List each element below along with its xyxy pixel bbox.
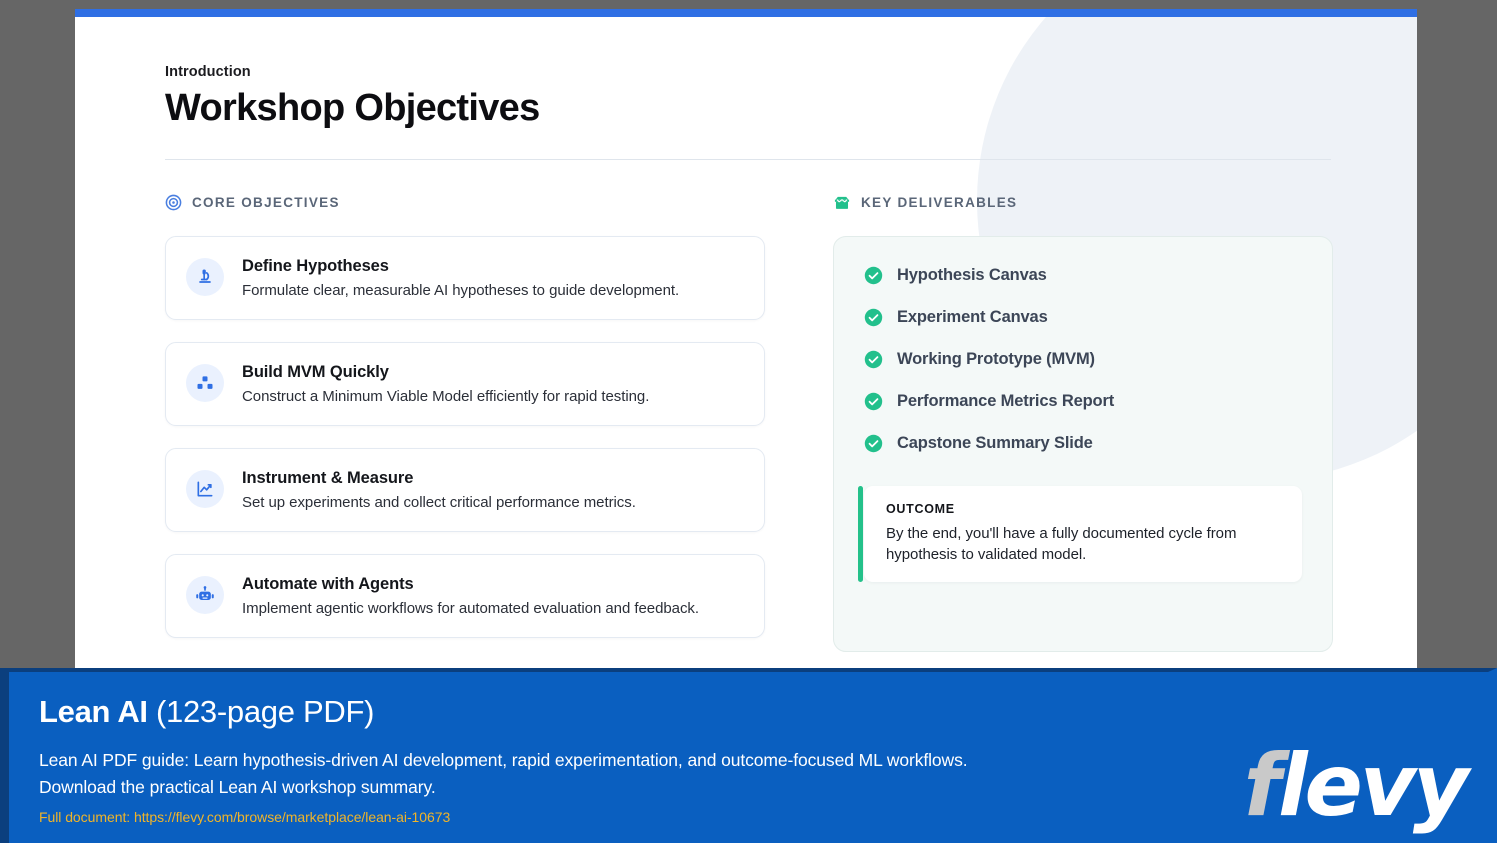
objective-title: Automate with Agents <box>242 575 699 594</box>
objective-text: Instrument & Measure Set up experiments … <box>242 468 636 511</box>
title-divider <box>165 159 1331 160</box>
slide-content: Introduction Workshop Objectives <box>75 9 1417 669</box>
objective-desc: Set up experiments and collect critical … <box>242 494 636 511</box>
content-columns: CORE OBJECTIVES <box>165 194 1327 660</box>
deliverable-label: Working Prototype (MVM) <box>897 350 1095 369</box>
deliverable-item[interactable]: Performance Metrics Report <box>864 392 1302 411</box>
check-circle-icon <box>864 434 883 453</box>
objective-card[interactable]: Automate with Agents Implement agentic w… <box>165 554 765 638</box>
promo-banner-content: Lean AI (123-page PDF) Lean AI PDF guide… <box>9 672 1488 843</box>
robot-icon <box>186 576 224 614</box>
objective-text: Build MVM Quickly Construct a Minimum Vi… <box>242 362 649 405</box>
outcome-accent-bar <box>858 486 863 583</box>
promo-title-strong: Lean AI <box>39 694 148 729</box>
deliverable-label: Performance Metrics Report <box>897 392 1114 411</box>
objective-title: Build MVM Quickly <box>242 363 649 382</box>
objective-desc: Implement agentic workflows for automate… <box>242 600 699 617</box>
outcome-label: OUTCOME <box>886 502 1282 516</box>
target-icon <box>165 194 182 211</box>
promo-title: Lean AI (123-page PDF) <box>39 694 1458 730</box>
core-objectives-column: CORE OBJECTIVES <box>165 194 765 660</box>
objective-card[interactable]: Define Hypotheses Formulate clear, measu… <box>165 236 765 320</box>
key-deliverables-header: KEY DELIVERABLES <box>833 194 1333 211</box>
chart-line-icon <box>186 470 224 508</box>
objective-text: Define Hypotheses Formulate clear, measu… <box>242 256 679 299</box>
outcome-text: By the end, you'll have a fully document… <box>886 523 1282 566</box>
cubes-icon <box>186 364 224 402</box>
objective-title: Define Hypotheses <box>242 257 679 276</box>
objective-desc: Construct a Minimum Viable Model efficie… <box>242 388 649 405</box>
deliverable-label: Experiment Canvas <box>897 308 1048 327</box>
deliverables-panel: Hypothesis Canvas Experiment Canvas <box>833 236 1333 652</box>
deliverable-label: Hypothesis Canvas <box>897 266 1047 285</box>
objective-card[interactable]: Build MVM Quickly Construct a Minimum Vi… <box>165 342 765 426</box>
core-objectives-header: CORE OBJECTIVES <box>165 194 765 211</box>
check-circle-icon <box>864 308 883 327</box>
page-title: Workshop Objectives <box>165 87 1327 131</box>
objective-desc: Formulate clear, measurable AI hypothese… <box>242 282 679 299</box>
outcome-callout: OUTCOME By the end, you'll have a fully … <box>864 486 1302 583</box>
objective-card[interactable]: Instrument & Measure Set up experiments … <box>165 448 765 532</box>
screenshot-root: Introduction Workshop Objectives <box>0 0 1497 843</box>
check-circle-icon <box>864 350 883 369</box>
deliverable-item[interactable]: Working Prototype (MVM) <box>864 350 1302 369</box>
slide-eyebrow: Introduction <box>165 64 1327 80</box>
check-circle-icon <box>864 392 883 411</box>
package-icon <box>833 194 851 211</box>
core-objectives-label: CORE OBJECTIVES <box>192 195 340 210</box>
deliverable-label: Capstone Summary Slide <box>897 434 1093 453</box>
promo-banner: Lean AI (123-page PDF) Lean AI PDF guide… <box>0 668 1497 843</box>
objective-text: Automate with Agents Implement agentic w… <box>242 574 699 617</box>
flevy-logo-rest: levy <box>1278 736 1466 836</box>
deliverable-item[interactable]: Experiment Canvas <box>864 308 1302 327</box>
key-deliverables-column: KEY DELIVERABLES Hypothesis Canvas <box>833 194 1333 660</box>
promo-title-rest: (123-page PDF) <box>148 694 374 729</box>
objective-title: Instrument & Measure <box>242 469 636 488</box>
deliverable-item[interactable]: Capstone Summary Slide <box>864 434 1302 453</box>
flevy-logo-f: f <box>1244 736 1278 836</box>
microscope-icon <box>186 258 224 296</box>
slide-canvas: Introduction Workshop Objectives <box>75 9 1417 669</box>
deliverable-item[interactable]: Hypothesis Canvas <box>864 266 1302 285</box>
flevy-logo: flevy <box>1244 743 1466 829</box>
key-deliverables-label: KEY DELIVERABLES <box>861 195 1017 210</box>
promo-description: Lean AI PDF guide: Learn hypothesis-driv… <box>39 747 1029 801</box>
check-circle-icon <box>864 266 883 285</box>
